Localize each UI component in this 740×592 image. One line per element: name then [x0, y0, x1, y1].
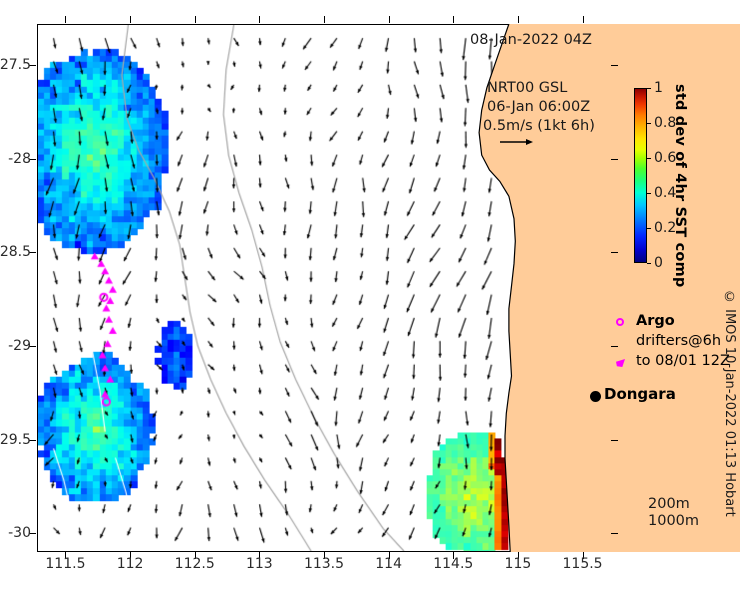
- reference-arrow-icon: [499, 137, 533, 147]
- x-tick: [324, 16, 325, 23]
- legend-row-argo: Argo: [612, 313, 740, 333]
- colorbar-tick: [647, 158, 651, 159]
- y-tick: [611, 440, 618, 441]
- y-tick-label: -27.5: [0, 57, 31, 73]
- colorbar-tick: [647, 228, 651, 229]
- x-tick: [453, 16, 454, 23]
- depth-label-1000m: 1000m: [648, 513, 699, 530]
- legend-drifters-label: drifters@6h: [636, 333, 721, 349]
- source-time-label: 06-Jan 06:00Z: [487, 99, 590, 115]
- colorbar-tick: [647, 193, 651, 194]
- depth-contour-legend: 200m 1000m: [648, 496, 699, 530]
- y-tick-label: -30: [8, 525, 31, 541]
- source-model-label: NRT00 GSL: [487, 80, 567, 96]
- x-tick-label: 115: [505, 556, 532, 572]
- x-tick-label: 111.5: [45, 556, 85, 572]
- legend-argo-label: Argo: [636, 313, 675, 329]
- colorbar-tick: [647, 123, 651, 124]
- x-tick: [259, 16, 260, 23]
- y-tick-label: -28.5: [0, 244, 31, 260]
- colorbar-tick: [647, 263, 651, 264]
- colorbar-tick: [647, 88, 651, 89]
- y-tick-label: -28: [8, 151, 31, 167]
- x-tick-label: 113: [246, 556, 273, 572]
- colorbar-gradient: [634, 88, 647, 263]
- y-tick: [611, 533, 618, 534]
- x-tick: [389, 16, 390, 23]
- copyright-notice: © IMOS 10-Jan-2022 01:13 Hobart: [722, 290, 737, 517]
- y-tick-label: -29.5: [0, 432, 31, 448]
- y-tick: [611, 252, 618, 253]
- y-tick: [611, 65, 618, 66]
- x-tick: [130, 16, 131, 23]
- dongara-city-marker: [590, 391, 601, 402]
- x-tick-label: 114.5: [433, 556, 473, 572]
- dongara-city-label: Dongara: [604, 385, 676, 403]
- x-tick: [583, 16, 584, 23]
- y-tick: [611, 159, 618, 160]
- marker-legend: Argo drifters@6h to 08/01 12Z: [612, 313, 740, 373]
- legend-row-drifters: drifters@6h: [612, 333, 740, 353]
- x-tick-label: 114: [375, 556, 402, 572]
- legend-period-label: to 08/01 12Z: [636, 353, 730, 369]
- x-tick: [195, 16, 196, 23]
- x-tick: [65, 16, 66, 23]
- x-tick: [518, 16, 519, 23]
- depth-label-200m: 200m: [648, 496, 699, 513]
- y-tick-label: -29: [8, 338, 31, 354]
- date-stamp: 08-Jan-2022 04Z: [470, 32, 592, 48]
- x-tick-label: 112: [117, 556, 144, 572]
- x-tick-label: 113.5: [304, 556, 344, 572]
- x-tick-label: 112.5: [175, 556, 215, 572]
- colorbar-title: std dev of 4hr SST comp: [672, 84, 688, 267]
- current-scale-label: 0.5m/s (1kt 6h): [483, 118, 595, 134]
- legend-row-period: to 08/01 12Z: [612, 353, 740, 373]
- x-tick-label: 115.5: [563, 556, 603, 572]
- bottom-margin-mask: [0, 552, 740, 592]
- imos-sst-currents-figure: 111.5112112.5113113.5114114.5115115.5 -2…: [0, 0, 740, 592]
- top-margin-mask: [0, 0, 740, 24]
- colorbar-tick-label: 0: [654, 255, 663, 271]
- argo-float-marker-icon: [616, 318, 624, 326]
- colorbar-tick-label: 1: [654, 80, 663, 96]
